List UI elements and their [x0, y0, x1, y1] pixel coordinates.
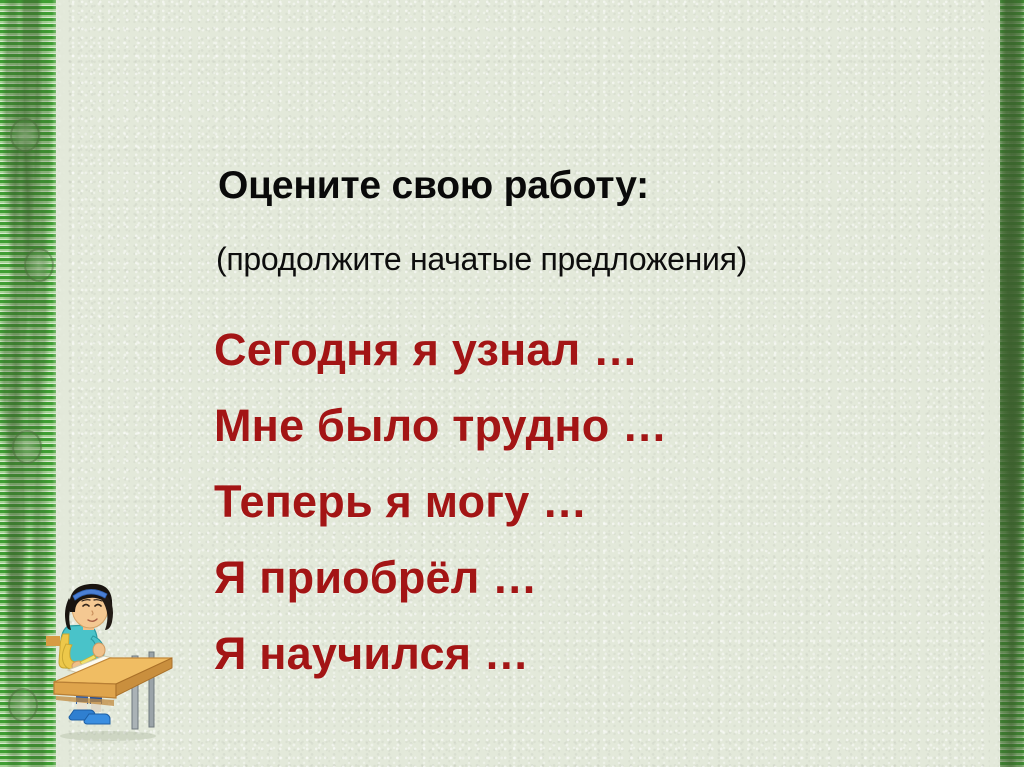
slide-content: Оцените свою работу: (продолжите начатые… — [214, 0, 974, 767]
border-medallion-icon — [24, 248, 54, 282]
prompt-line: Мне было трудно … — [214, 388, 667, 464]
slide-subtitle: (продолжите начатые предложения) — [216, 243, 747, 275]
prompt-line: Я научился … — [214, 616, 667, 692]
slide-canvas: Оцените свою работу: (продолжите начатые… — [0, 0, 1024, 767]
prompt-sentence-list: Сегодня я узнал … Мне было трудно … Тепе… — [214, 312, 667, 692]
border-medallion-icon — [10, 118, 40, 152]
right-decorative-border — [1000, 0, 1024, 767]
student-at-desk-illustration — [46, 578, 186, 743]
border-medallion-icon — [8, 688, 38, 722]
prompt-line: Теперь я могу … — [214, 464, 667, 540]
right-border-floral-texture — [1000, 0, 1024, 767]
slide-title: Оцените свою работу: — [218, 166, 649, 205]
prompt-line: Я приобрёл … — [214, 540, 667, 616]
border-medallion-icon — [12, 430, 42, 464]
prompt-line: Сегодня я узнал … — [214, 312, 667, 388]
